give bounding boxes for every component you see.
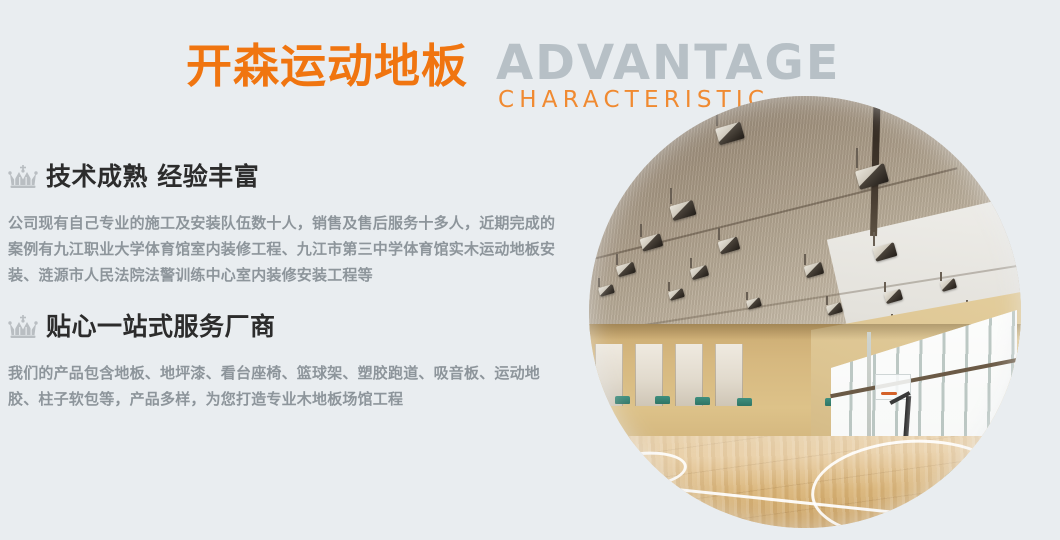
feature-item: 贴心一站式服务厂商 我们的产品包含地板、地坪漆、看台座椅、篮球架、塑胶跑道、吸音… xyxy=(8,310,568,412)
title-english-main: ADVANTAGE xyxy=(496,36,841,90)
feature-heading: 贴心一站式服务厂商 xyxy=(8,310,568,344)
advantage-banner: ADVANTAGE CHARACTERISTIC 开森运动地板 xyxy=(0,0,1060,540)
basketball-gymnasium-photo xyxy=(589,96,1021,528)
feature-title: 技术成熟 经验丰富 xyxy=(46,162,259,192)
feature-item: 技术成熟 经验丰富 公司现有自己专业的施工及安装队伍数十人，销售及售后服务十多人… xyxy=(8,160,568,288)
feature-description: 公司现有自己专业的施工及安装队伍数十人，销售及售后服务十多人，近期完成的案例有九… xyxy=(8,210,556,288)
gym-scene xyxy=(589,96,1021,528)
title-chinese: 开森运动地板 xyxy=(186,38,468,94)
spectator-chair xyxy=(615,396,630,404)
feature-title: 贴心一站式服务厂商 xyxy=(46,312,276,342)
spectator-chair xyxy=(737,398,752,406)
feature-heading: 技术成熟 经验丰富 xyxy=(8,160,568,194)
spectator-chair xyxy=(695,397,710,405)
feature-list: 技术成熟 经验丰富 公司现有自己专业的施工及安装队伍数十人，销售及售后服务十多人… xyxy=(8,160,568,412)
feature-description: 我们的产品包含地板、地坪漆、看台座椅、篮球架、塑胶跑道、吸音板、运动地胶、柱子软… xyxy=(8,360,556,412)
wall-alcove xyxy=(715,344,743,406)
crown-icon xyxy=(8,315,38,339)
crown-icon xyxy=(8,165,38,189)
spectator-chair xyxy=(655,396,670,404)
hoop-rim xyxy=(881,392,897,395)
